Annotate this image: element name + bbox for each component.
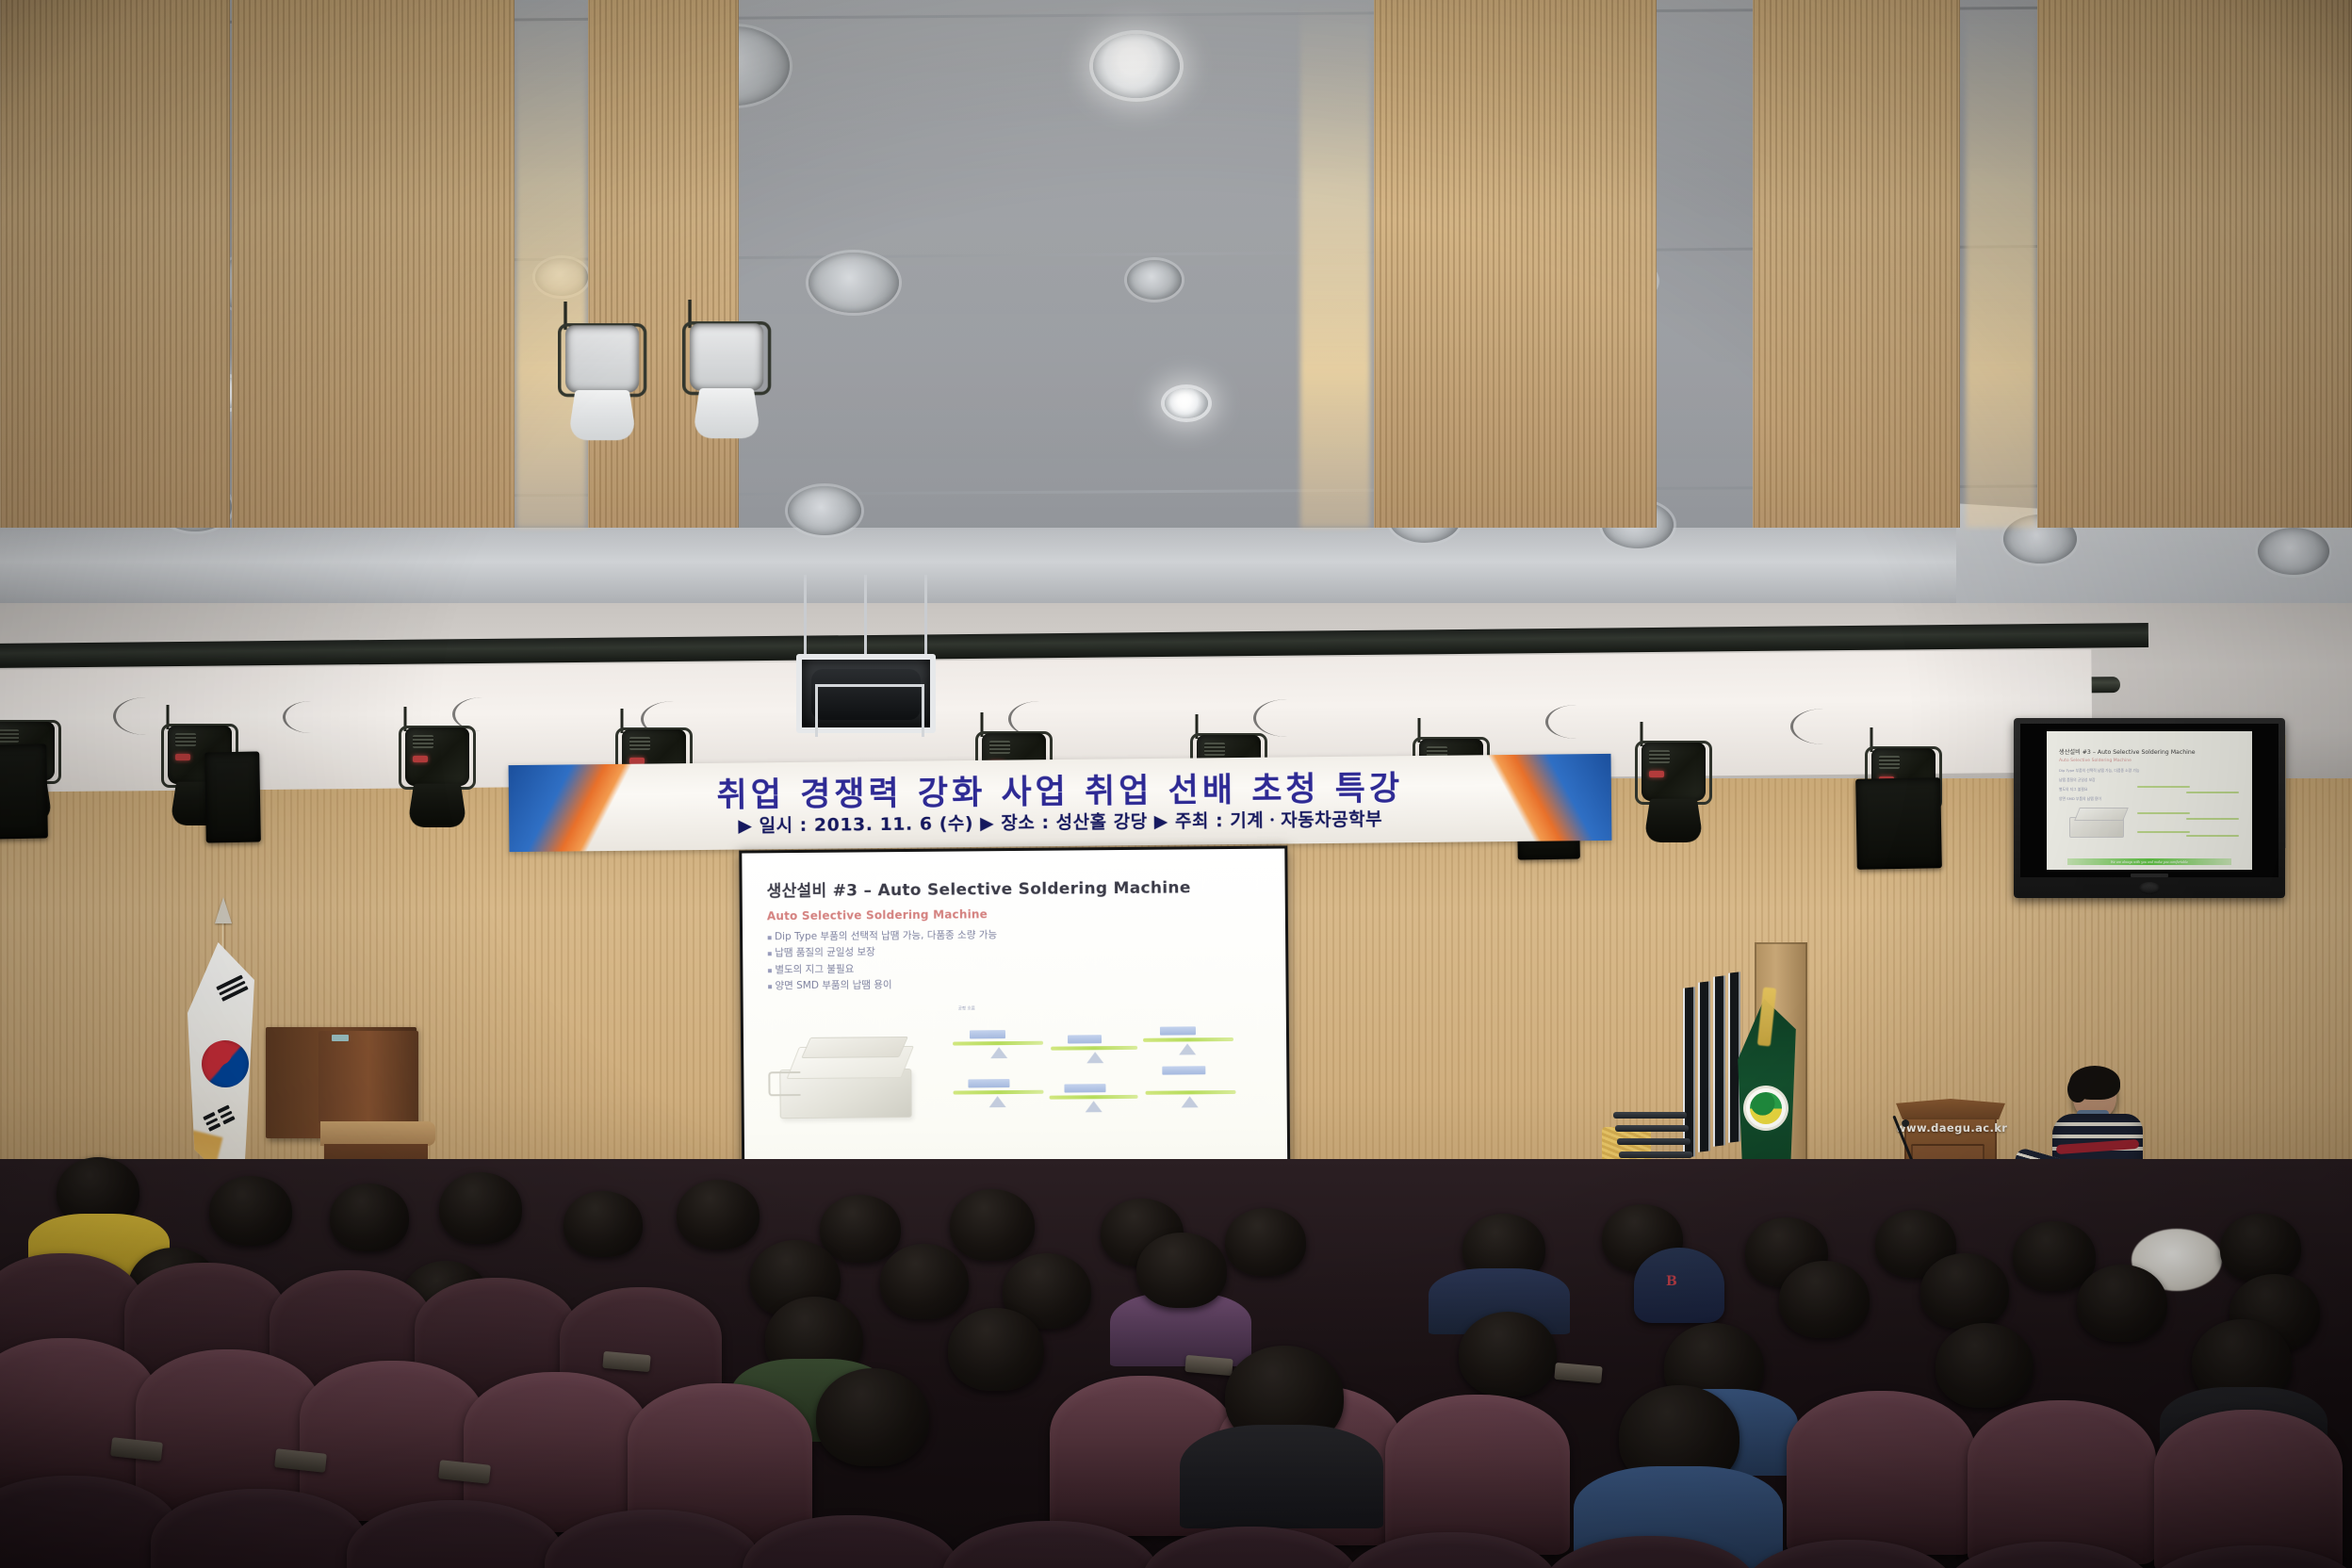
wall-panel: [0, 0, 230, 528]
ceiling-downlight: [1093, 34, 1180, 98]
wall-panel: [1374, 0, 1657, 528]
audience-head: [563, 1191, 643, 1257]
ceiling-downlight: [808, 253, 899, 313]
wall-uplight-glow: [1966, 0, 2035, 528]
podium-url-text: www.daegu.ac.kr: [1896, 1121, 2005, 1135]
auditorium-seat[interactable]: [300, 1361, 484, 1521]
trigram-gon-icon: [203, 1104, 237, 1134]
tv-machine-photo: [2066, 804, 2130, 841]
audience-head: [1136, 1233, 1227, 1308]
truss-cable: [1545, 705, 1608, 739]
university-emblem-icon: [1743, 1086, 1788, 1131]
wall-mounted-tv: 생산설비 #3 – Auto Selective Soldering Machi…: [2014, 718, 2285, 898]
slide-bullet: 양면 SMD 부품의 납땜 용이: [767, 974, 1266, 995]
ceiling-downlight: [788, 486, 861, 535]
event-banner: 취업 경쟁력 강화 사업 취업 선배 초청 특강 ▶ 일시 : 2013. 11…: [509, 754, 1612, 852]
audience-head: [1935, 1323, 2033, 1408]
baseball-cap-attendee: [1634, 1248, 1724, 1323]
auditorium-seat[interactable]: [1968, 1400, 2156, 1564]
tv-screen: 생산설비 #3 – Auto Selective Soldering Machi…: [2047, 731, 2252, 870]
presenter-hair: [2067, 1076, 2086, 1102]
pa-speaker: [1855, 777, 1942, 870]
audience-head: [1225, 1208, 1306, 1276]
audience-head: [880, 1244, 969, 1319]
pa-speaker: [0, 743, 48, 839]
audience-head: [816, 1368, 929, 1466]
auditorium-seat[interactable]: [1787, 1391, 1975, 1555]
audience-head: [1779, 1261, 1870, 1338]
tv-brand-label: [2131, 874, 2168, 877]
tv-slide-bullet: 양면 SMD 부품의 납땜 용이: [2059, 796, 2101, 802]
wall-uplight-glow: [516, 0, 586, 528]
soldering-machine-photo: [770, 1037, 931, 1128]
tv-diagram: [2137, 769, 2241, 844]
tv-bezel: 생산설비 #3 – Auto Selective Soldering Machi…: [2020, 724, 2278, 877]
pa-speaker: [204, 752, 261, 843]
flag-finial-icon: [215, 897, 232, 923]
truss-cable: [283, 701, 339, 733]
slide-subtitle: Auto Selective Soldering Machine: [767, 906, 1266, 923]
wall-uplight-glow: [1300, 0, 1370, 528]
slide-title: 생산설비 #3 – Auto Selective Soldering Machi…: [767, 874, 1266, 902]
wall-panel: [232, 0, 514, 528]
audience-head: [820, 1195, 901, 1263]
tv-stand: [2139, 882, 2160, 894]
truss-cable: [1253, 699, 1321, 737]
tv-footer-bar: We are always with you and make you comf…: [2067, 858, 2231, 865]
auditorium-seat[interactable]: [2154, 1410, 2343, 1568]
tv-footer-text: We are always with you and make you comf…: [2111, 860, 2188, 864]
tv-slide-bullet: Dip Type 부품의 선택적 납땜 가능, 다품종 소량 가능: [2059, 768, 2139, 774]
trigram-geon-icon: [216, 974, 250, 1004]
audience-head: [1459, 1312, 1557, 1396]
audience-head: [2220, 1214, 2301, 1282]
audience-head: [677, 1180, 759, 1249]
auditorium-scene: 취업 경쟁력 강화 사업 취업 선배 초청 특강 ▶ 일시 : 2013. 11…: [0, 0, 2352, 1568]
ceiling-downlight: [1165, 388, 1208, 418]
ceiling-downlight: [2258, 528, 2329, 575]
wall-panel: [2037, 0, 2352, 528]
audience-head: [2013, 1221, 2096, 1291]
audience-head: [209, 1176, 292, 1246]
tv-slide-bullet: 별도의 지그 불필요: [2059, 787, 2087, 792]
piano-label: [332, 1035, 349, 1041]
ceiling-downlight: [1127, 260, 1182, 300]
cap-letter: B: [1666, 1274, 1677, 1289]
taeguk-symbol-icon: [193, 1032, 254, 1096]
tv-slide-subtitle: Auto Selective Soldering Machine: [2059, 759, 2131, 763]
audience-shoulders: [1180, 1425, 1383, 1528]
soldering-process-diagram: 공정 흐름: [949, 1017, 1242, 1133]
audience-head: [950, 1189, 1035, 1261]
audience-head: [330, 1184, 409, 1251]
audience-head: [439, 1172, 522, 1244]
wall-panel: [588, 0, 739, 528]
truss-cable: [1790, 709, 1856, 744]
tv-slide-title: 생산설비 #3 – Auto Selective Soldering Machi…: [2059, 747, 2196, 756]
audience-head: [2077, 1265, 2167, 1342]
slide-bullet-list: Dip Type 부품의 선택적 납땜 가능, 다품종 소량 가능 납땜 품질의…: [767, 925, 1267, 995]
wall-panel: [1753, 0, 1960, 528]
auditorium-seat[interactable]: [1385, 1395, 1570, 1555]
auditorium-seat[interactable]: [136, 1349, 320, 1510]
auditorium-seat[interactable]: [0, 1338, 156, 1498]
audience-head: [948, 1308, 1044, 1391]
audience-head: [1920, 1253, 2009, 1329]
tv-slide-bullet: 납땜 품질의 균일성 보장: [2059, 777, 2096, 783]
